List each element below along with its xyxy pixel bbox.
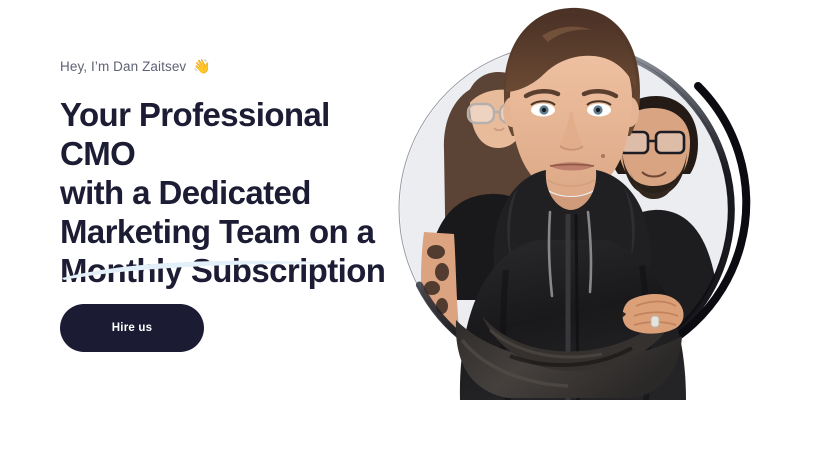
team-photo-illustration [398, 0, 840, 455]
hero-copy: Hey, I’m Dan Zaitsev 👋 Your Professional… [60, 58, 400, 290]
hero-eyebrow: Hey, I’m Dan Zaitsev 👋 [60, 58, 400, 76]
page-title: Your Professional CMO with a Dedicated M… [60, 95, 405, 290]
waving-hand-emoji: 👋 [193, 59, 211, 73]
hire-us-button[interactable]: Hire us [60, 304, 204, 352]
headline-line-1: Your Professional CMO [60, 96, 330, 172]
hero-photo [398, 0, 840, 455]
headline-line-3: Marketing Team on a [60, 213, 374, 250]
hero-eyebrow-text: Hey, I’m Dan Zaitsev [60, 58, 186, 76]
headline-line-4: Monthly Subscription [60, 252, 385, 289]
hire-us-button-label: Hire us [112, 322, 152, 334]
hand [623, 294, 684, 334]
hero-section: Hey, I’m Dan Zaitsev 👋 Your Professional… [0, 0, 840, 455]
headline-line-2: with a Dedicated [60, 174, 311, 211]
